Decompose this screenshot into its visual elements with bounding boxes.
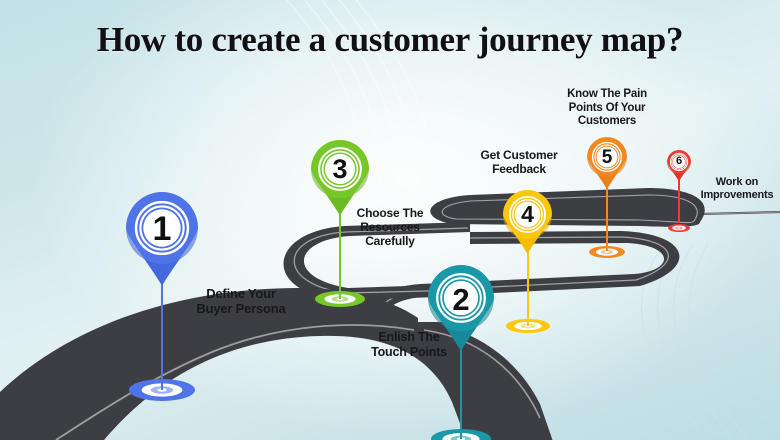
pin-stem-3 (339, 213, 341, 299)
infographic-canvas: How to create a customer journey map? 1D… (0, 0, 780, 440)
pin-stem-5 (606, 187, 608, 251)
page-title: How to create a customer journey map? (0, 20, 780, 60)
step-number-4: 4 (503, 203, 552, 226)
step-number-5: 5 (587, 148, 627, 167)
step-pin-4[interactable]: 4 (503, 190, 552, 254)
pin-stem-6 (678, 179, 680, 223)
step-pin-3[interactable]: 3 (311, 140, 369, 215)
pin-stem-1 (161, 284, 163, 390)
step-number-2: 2 (428, 284, 494, 315)
step-pin-5[interactable]: 5 (587, 137, 627, 189)
step-label-1: Define Your Buyer Persona (181, 286, 301, 317)
pin-stem-2 (460, 349, 462, 439)
step-label-4: Get Customer Feedback (465, 148, 573, 176)
step-label-2: Enlish The Touch Points (357, 330, 461, 360)
step-pin-1[interactable]: 1 (126, 192, 198, 286)
step-label-5: Know The Pain Points Of Your Customers (549, 88, 665, 129)
pin-stem-4 (527, 252, 529, 326)
step-number-1: 1 (126, 212, 198, 246)
step-pin-6[interactable]: 6 (667, 150, 691, 181)
step-number-6: 6 (667, 156, 691, 167)
step-number-3: 3 (311, 156, 369, 183)
step-label-6: Work on Improvements (693, 176, 780, 202)
step-label-3: Choose The Resources Carefully (342, 206, 438, 248)
